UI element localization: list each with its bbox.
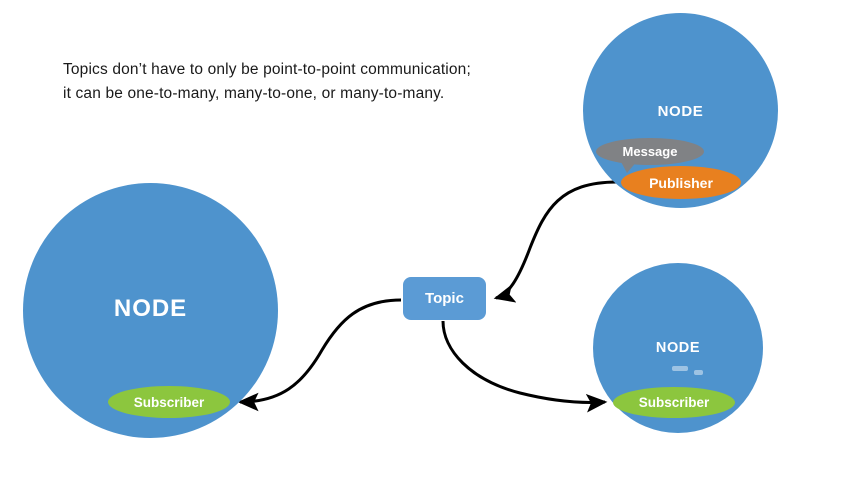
subscriber-pill-left[interactable]: Subscriber	[108, 386, 230, 418]
render-artifact	[694, 370, 703, 375]
edge-topic-to-subscriber-right	[443, 321, 605, 402]
node-label-bottom-right: NODE	[593, 340, 763, 356]
topic-box[interactable]: Topic	[403, 277, 486, 320]
publisher-pill[interactable]: Publisher	[621, 166, 741, 199]
subscriber-pill-right[interactable]: Subscriber	[613, 387, 735, 418]
node-label-top-right: NODE	[583, 103, 778, 120]
message-bubble[interactable]: Message	[596, 138, 704, 165]
edge-publisher-to-topic	[496, 182, 617, 298]
slide-canvas: Topics don’t have to only be point-to-po…	[0, 0, 854, 480]
caption-text: Topics don’t have to only be point-to-po…	[63, 58, 483, 106]
render-artifact	[672, 366, 688, 371]
node-label-left: NODE	[23, 295, 278, 323]
